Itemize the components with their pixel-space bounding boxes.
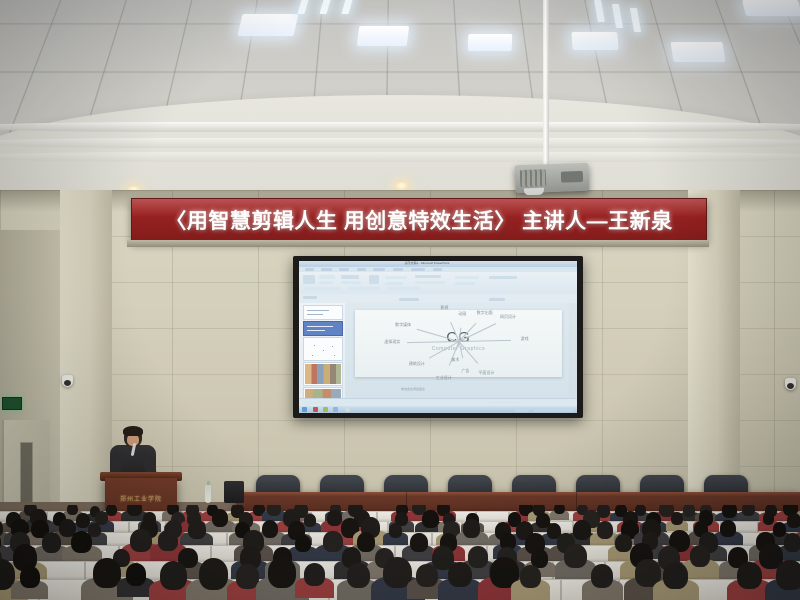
- audience-member-head: [690, 545, 710, 567]
- ribbon-control[interactable]: [305, 287, 341, 290]
- audience-member-head: [671, 512, 683, 525]
- audience-member-head: [776, 560, 800, 590]
- ribbon-tab[interactable]: [373, 268, 385, 271]
- taskbar-app-icon[interactable]: [313, 407, 318, 412]
- mindmap-node: 广告: [461, 368, 469, 374]
- speaker-hair: [123, 426, 143, 436]
- taskbar-app-icon[interactable]: [333, 407, 338, 412]
- audience-member-head: [304, 514, 316, 527]
- mindmap-node: 网页设计: [500, 314, 516, 320]
- ceiling-panel-light: [468, 34, 513, 51]
- audience-member-head: [323, 531, 342, 552]
- audience-member-head: [304, 563, 325, 586]
- ribbon-control[interactable]: [341, 275, 359, 279]
- bar-segment: [489, 298, 505, 301]
- podium-nameplate: 郑州工业学院: [119, 492, 163, 504]
- current-slide: CG Computer Graphics 影视动画数字出版网页设计游戏虚拟现实数…: [355, 310, 562, 377]
- ribbon-control[interactable]: [341, 281, 361, 284]
- slide-thumbnail[interactable]: [303, 362, 343, 386]
- audience-member-head: [416, 564, 437, 587]
- security-camera-icon: [62, 375, 73, 387]
- soffit-accent-band: [0, 152, 800, 162]
- ceiling-panel-light: [357, 26, 409, 46]
- ribbon-control[interactable]: [489, 276, 517, 279]
- audience-member-head: [720, 520, 736, 537]
- windows-taskbar[interactable]: [299, 406, 577, 413]
- audience-member-head: [20, 566, 40, 588]
- seat-divider: [560, 580, 562, 600]
- audience-member-head: [564, 544, 586, 568]
- mindmap-node: 数字出版: [477, 310, 493, 316]
- event-banner: 〈用智慧剪辑人生 用创意特效生活〉 主讲人—王新泉: [131, 198, 707, 242]
- ribbon-control[interactable]: [385, 282, 403, 285]
- audience-member-head: [737, 562, 762, 589]
- audience-member-head: [468, 546, 488, 567]
- ribbon-control[interactable]: [455, 282, 475, 285]
- mindmap-node: 平面设计: [478, 370, 494, 376]
- audience-member-head: [268, 557, 296, 588]
- audience-member-head: [199, 558, 229, 590]
- mindmap-node: 动画: [458, 311, 466, 317]
- powerpoint-status-bar: [299, 398, 577, 406]
- bar-segment: [399, 298, 419, 301]
- thumbnail-photo-preview: [305, 364, 341, 384]
- bar-segment: [303, 296, 317, 299]
- taskbar-clock[interactable]: [515, 408, 529, 412]
- audience-member-head: [773, 522, 787, 537]
- ribbon-control[interactable]: [415, 275, 441, 278]
- slide-thumbnail-selected[interactable]: [303, 321, 343, 336]
- audience-member-head: [597, 521, 613, 539]
- taskbar-start-icon[interactable]: [302, 407, 307, 412]
- thumbnail-mindmap-preview: [306, 340, 340, 358]
- audience-member-head: [763, 512, 775, 525]
- slide-thumbnail[interactable]: [303, 337, 343, 361]
- soffit-accent-band: [0, 122, 800, 132]
- water-bottle: [205, 485, 211, 503]
- audience-member-head: [722, 505, 737, 518]
- audience-member-head: [160, 561, 187, 590]
- audience-member-head: [126, 563, 147, 585]
- powerpoint-secondary-bar: [299, 294, 577, 303]
- ribbon-tab[interactable]: [393, 268, 403, 271]
- status-segment: [489, 401, 519, 404]
- ribbon-control[interactable]: [387, 287, 421, 290]
- audience-member-head: [615, 534, 632, 552]
- audience-member-head: [554, 505, 565, 514]
- door-window: [20, 442, 33, 506]
- ribbon-control[interactable]: [455, 276, 479, 279]
- audience-member-head: [422, 510, 439, 528]
- event-banner-text: 〈用智慧剪辑人生 用创意特效生活〉 主讲人—王新泉: [165, 205, 672, 235]
- ribbon-control[interactable]: [319, 275, 335, 279]
- mindmap-node: 虚拟现实: [384, 339, 400, 345]
- banner-shelf: [127, 240, 709, 247]
- audience-member-head: [389, 523, 403, 538]
- slide-thumbnail-panel[interactable]: [299, 303, 346, 399]
- audience-member-head: [573, 520, 591, 539]
- projector-mount-pole: [543, 0, 549, 168]
- projector-lens: [524, 188, 544, 196]
- mindmap-node: 美术: [451, 357, 459, 363]
- av-equipment-box: [224, 481, 244, 503]
- audience-member-head: [448, 562, 472, 588]
- taskbar-app-icon[interactable]: [323, 407, 328, 412]
- ribbon-control[interactable]: [349, 287, 379, 290]
- exit-sign-icon: [2, 397, 22, 410]
- projection-screen: 演示文稿1 - Microsoft PowerPoint: [299, 261, 577, 413]
- taskbar-tray[interactable]: [533, 408, 573, 412]
- audience-member-head: [127, 505, 142, 516]
- security-camera-icon: [785, 378, 796, 390]
- taskbar-app-icon[interactable]: [345, 407, 350, 412]
- ceiling-panel-light: [571, 32, 618, 50]
- powerpoint-title-text: 演示文稿1 - Microsoft PowerPoint: [405, 261, 450, 265]
- audience-member-head: [130, 529, 152, 553]
- ribbon-tab[interactable]: [339, 268, 349, 271]
- audience-member-head: [327, 510, 342, 526]
- powerpoint-ribbon[interactable]: [299, 272, 577, 295]
- audience-member-head: [347, 563, 371, 588]
- mindmap-node: 建筑设计: [409, 361, 425, 367]
- soffit-accent-band: [0, 138, 800, 148]
- lecture-hall-photo: 〈用智慧剪辑人生 用创意特效生活〉 主讲人—王新泉 演示文稿1 - Micros…: [0, 0, 800, 600]
- audience-member-head: [463, 519, 480, 538]
- audience-member-head: [106, 505, 117, 516]
- audience-member-head: [683, 505, 695, 517]
- audience-member-head: [262, 520, 279, 538]
- audience-member-head: [212, 509, 229, 527]
- slide-notes-pane[interactable]: 单击此处添加备注: [401, 377, 555, 383]
- ribbon-control[interactable]: [319, 281, 333, 284]
- audience-member-head: [158, 530, 178, 551]
- status-segment: [303, 401, 325, 404]
- ceiling-panel-light: [742, 0, 800, 16]
- ribbon-tab[interactable]: [433, 268, 442, 271]
- audience-member-head: [663, 562, 688, 589]
- audience-member-head: [67, 505, 78, 515]
- projection-screen-frame: 演示文稿1 - Microsoft PowerPoint: [293, 256, 583, 418]
- audience-member-head: [267, 505, 281, 516]
- ribbon-control[interactable]: [385, 276, 407, 279]
- audience-member-head: [784, 533, 800, 551]
- ceiling-panel-light: [670, 42, 725, 62]
- ribbon-control[interactable]: [415, 281, 445, 284]
- audience-member-head: [591, 564, 613, 588]
- audience-area: [0, 505, 800, 600]
- slide-notes-placeholder: 单击此处添加备注: [401, 387, 425, 391]
- ribbon-tab[interactable]: [321, 268, 332, 271]
- ribbon-tab[interactable]: [411, 268, 425, 271]
- ribbon-tab[interactable]: [305, 268, 314, 271]
- audience-member-head: [71, 531, 92, 554]
- audience-member-head: [520, 565, 541, 588]
- mindmap-node: 游戏: [521, 336, 529, 342]
- audience-member-head: [410, 533, 428, 552]
- ribbon-control[interactable]: [303, 275, 315, 284]
- mindmap-node: 影视: [440, 305, 448, 311]
- audience-member-head: [742, 505, 755, 516]
- slide-thumbnail[interactable]: [303, 305, 343, 320]
- audience-member-head: [42, 532, 62, 553]
- ribbon-control[interactable]: [369, 275, 379, 284]
- audience-member-head: [357, 532, 376, 552]
- ceiling-panel-light: [237, 14, 298, 36]
- slide-editing-stage[interactable]: CG Computer Graphics 影视动画数字出版网页设计游戏虚拟现实数…: [345, 303, 569, 399]
- audience-member-head: [787, 513, 800, 528]
- podium-nameplate-text: 郑州工业学院: [120, 494, 162, 503]
- mindmap-node: 数字媒体: [395, 322, 411, 328]
- ribbon-tab[interactable]: [357, 268, 366, 271]
- audience-member-head: [295, 535, 311, 552]
- ceiling: [0, 0, 800, 210]
- audience-member-head: [188, 520, 206, 539]
